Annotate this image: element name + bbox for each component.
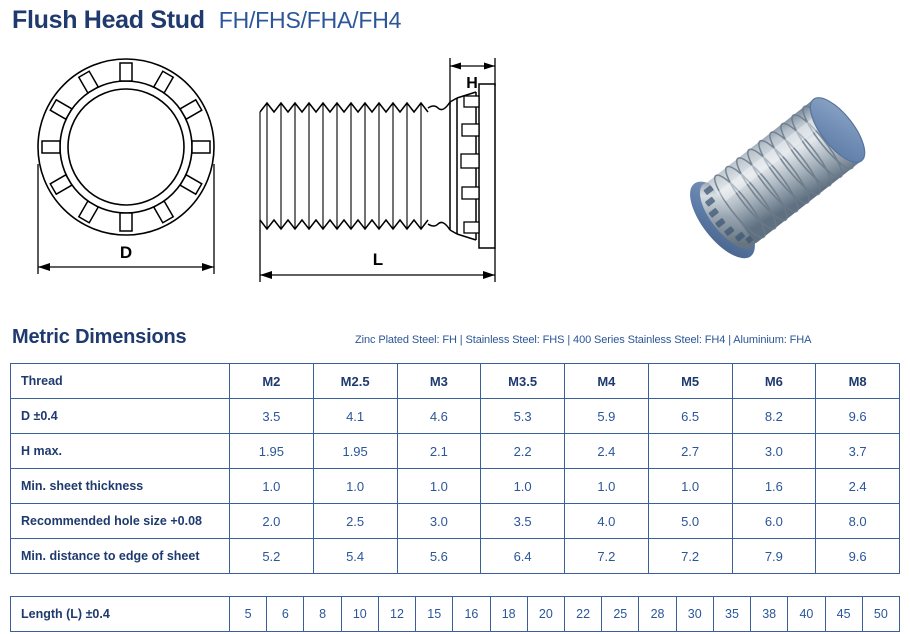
cell-d-m5: 6.5 xyxy=(648,399,732,434)
length-value: 8 xyxy=(304,597,341,632)
cell-hole-m4: 4.0 xyxy=(565,504,649,539)
length-value: 38 xyxy=(751,597,788,632)
cell-h-m35: 2.2 xyxy=(481,434,565,469)
table-row: Min. distance to edge of sheet 5.2 5.4 5… xyxy=(11,539,900,574)
length-row: Length (L) ±0.4 5 6 8 10 12 15 16 18 20 … xyxy=(11,597,900,632)
l-dimension-label: L xyxy=(373,250,383,269)
product-render-svg xyxy=(655,50,905,300)
row-label-recommended-hole-size: Recommended hole size +0.08 xyxy=(11,504,230,539)
cell-hole-m35: 3.5 xyxy=(481,504,565,539)
cell-mst-m3: 1.0 xyxy=(397,469,481,504)
cell-h-m25: 1.95 xyxy=(313,434,397,469)
head-flange-plate xyxy=(479,84,495,248)
length-value: 18 xyxy=(490,597,527,632)
length-value: 50 xyxy=(862,597,899,632)
top-view-drawing: D xyxy=(8,52,258,297)
page-title: Flush Head Stud xyxy=(12,6,205,35)
length-options-table: Length (L) ±0.4 5 6 8 10 12 15 16 18 20 … xyxy=(10,596,900,632)
table-row: H max. 1.95 1.95 2.1 2.2 2.4 2.7 3.0 3.7 xyxy=(11,434,900,469)
knurl-ring-circle xyxy=(60,81,192,213)
cell-d-m2: 3.5 xyxy=(230,399,314,434)
table-row: D ±0.4 3.5 4.1 4.6 5.3 5.9 6.5 8.2 9.6 xyxy=(11,399,900,434)
cell-h-m4: 2.4 xyxy=(565,434,649,469)
cell-edge-m25: 5.4 xyxy=(313,539,397,574)
row-label-h-max: H max. xyxy=(11,434,230,469)
stud-body-group xyxy=(678,84,878,269)
length-value: 20 xyxy=(527,597,564,632)
cell-hole-m5: 5.0 xyxy=(648,504,732,539)
length-value: 12 xyxy=(378,597,415,632)
row-label-d: D ±0.4 xyxy=(11,399,230,434)
column-header-m6: M6 xyxy=(732,364,816,399)
metric-dimensions-table: Thread M2 M2.5 M3 M3.5 M4 M5 M6 M8 D ±0.… xyxy=(10,363,900,574)
length-value: 28 xyxy=(639,597,676,632)
table-row: Recommended hole size +0.08 2.0 2.5 3.0 … xyxy=(11,504,900,539)
thread-profile-top xyxy=(260,103,428,112)
cell-hole-m8: 8.0 xyxy=(816,504,900,539)
cell-edge-m5: 7.2 xyxy=(648,539,732,574)
length-value: 10 xyxy=(341,597,378,632)
material-code-note: Zinc Plated Steel: FH | Stainless Steel:… xyxy=(355,334,811,346)
product-codes: FH/FHS/FHA/FH4 xyxy=(219,7,401,34)
cell-edge-m8: 9.6 xyxy=(816,539,900,574)
column-header-m4: M4 xyxy=(565,364,649,399)
cell-hole-m2: 2.0 xyxy=(230,504,314,539)
cell-edge-m4: 7.2 xyxy=(565,539,649,574)
section-title: Metric Dimensions xyxy=(12,326,186,349)
column-header-m35: M3.5 xyxy=(481,364,565,399)
metric-dimensions-header: Metric Dimensions Zinc Plated Steel: FH … xyxy=(0,326,910,358)
shaft-circle xyxy=(68,89,184,205)
cell-d-m35: 5.3 xyxy=(481,399,565,434)
cell-edge-m6: 7.9 xyxy=(732,539,816,574)
product-render-image xyxy=(655,50,905,305)
cell-hole-m6: 6.0 xyxy=(732,504,816,539)
column-header-m2: M2 xyxy=(230,364,314,399)
cell-d-m8: 9.6 xyxy=(816,399,900,434)
length-value: 30 xyxy=(676,597,713,632)
row-label-length: Length (L) ±0.4 xyxy=(11,597,230,632)
cell-d-m4: 5.9 xyxy=(565,399,649,434)
d-dimension-label: D xyxy=(120,243,132,262)
cell-hole-m3: 3.0 xyxy=(397,504,481,539)
cell-h-m2: 1.95 xyxy=(230,434,314,469)
column-header-m5: M5 xyxy=(648,364,732,399)
length-value: 35 xyxy=(713,597,750,632)
row-label-min-sheet-thickness: Min. sheet thickness xyxy=(11,469,230,504)
cell-h-m5: 2.7 xyxy=(648,434,732,469)
h-dimension-label: H xyxy=(466,75,478,92)
thread-crest-lines xyxy=(260,103,421,229)
head-undercut-top xyxy=(428,102,450,110)
cell-mst-m2: 1.0 xyxy=(230,469,314,504)
length-value: 40 xyxy=(788,597,825,632)
length-value: 6 xyxy=(267,597,304,632)
row-label-min-distance-to-edge: Min. distance to edge of sheet xyxy=(11,539,230,574)
length-value: 16 xyxy=(453,597,490,632)
cell-edge-m35: 6.4 xyxy=(481,539,565,574)
top-view-svg: D xyxy=(8,52,258,292)
cell-h-m8: 3.7 xyxy=(816,434,900,469)
cell-mst-m35: 1.0 xyxy=(481,469,565,504)
cell-mst-m5: 1.0 xyxy=(648,469,732,504)
length-value: 22 xyxy=(564,597,601,632)
length-value: 15 xyxy=(416,597,453,632)
column-header-m25: M2.5 xyxy=(313,364,397,399)
side-view-svg: H L xyxy=(248,44,528,294)
length-value: 45 xyxy=(825,597,862,632)
table-corner-header: Thread xyxy=(11,364,230,399)
cell-edge-m3: 5.6 xyxy=(397,539,481,574)
thread-profile-bottom xyxy=(260,220,428,229)
side-view-drawing: H L xyxy=(248,44,528,299)
length-value: 5 xyxy=(230,597,267,632)
cell-mst-m6: 1.6 xyxy=(732,469,816,504)
cell-hole-m25: 2.5 xyxy=(313,504,397,539)
cell-d-m6: 8.2 xyxy=(732,399,816,434)
head-undercut-bottom xyxy=(428,222,450,230)
cell-h-m3: 2.1 xyxy=(397,434,481,469)
cell-mst-m4: 1.0 xyxy=(565,469,649,504)
flange-outer-circle xyxy=(38,59,214,235)
page-title-bar: Flush Head Stud FH/FHS/FHA/FH4 xyxy=(12,6,401,35)
cell-mst-m8: 2.4 xyxy=(816,469,900,504)
length-value: 25 xyxy=(602,597,639,632)
cell-h-m6: 3.0 xyxy=(732,434,816,469)
technical-drawings: D xyxy=(0,44,910,302)
table-header-row: Thread M2 M2.5 M3 M3.5 M4 M5 M6 M8 xyxy=(11,364,900,399)
column-header-m8: M8 xyxy=(816,364,900,399)
cell-d-m25: 4.1 xyxy=(313,399,397,434)
cell-edge-m2: 5.2 xyxy=(230,539,314,574)
table-row: Min. sheet thickness 1.0 1.0 1.0 1.0 1.0… xyxy=(11,469,900,504)
cell-mst-m25: 1.0 xyxy=(313,469,397,504)
column-header-m3: M3 xyxy=(397,364,481,399)
cell-d-m3: 4.6 xyxy=(397,399,481,434)
